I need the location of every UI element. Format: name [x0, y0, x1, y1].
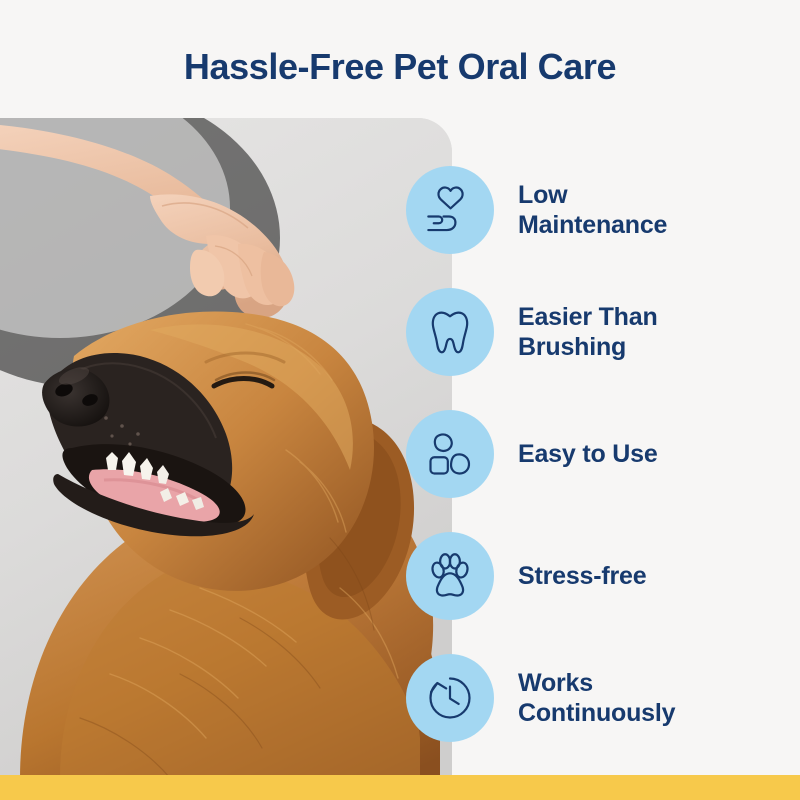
feature-label-line2: Continuously [518, 699, 675, 727]
clock-arrow-icon [406, 654, 494, 742]
feature-label-line2: Brushing [518, 333, 626, 361]
dog-photo [0, 118, 452, 778]
feature-label-line1: Low [518, 181, 567, 209]
promo-infographic: Hassle-Free Pet Oral Care [0, 0, 800, 800]
feature-item-easy-to-use: Easy to Use [406, 410, 800, 498]
feature-label-line1: Easier Than [518, 303, 658, 331]
feature-label-line1: Easy to Use [518, 440, 658, 468]
feature-label-line1: Stress-free [518, 562, 646, 590]
feature-label: Works Continuously [518, 668, 675, 728]
feature-label: Easier Than Brushing [518, 302, 658, 362]
tooth-icon [406, 288, 494, 376]
feature-item-easier-than-brushing: Easier Than Brushing [406, 288, 800, 376]
feature-label-line2: Maintenance [518, 211, 667, 239]
feature-label: Stress-free [518, 561, 646, 591]
feature-label: Low Maintenance [518, 180, 667, 240]
dog-photo-illustration [0, 118, 452, 778]
feature-label-line1: Works [518, 669, 593, 697]
feature-item-low-maintenance: Low Maintenance [406, 166, 800, 254]
bottom-accent-bar [0, 775, 800, 800]
feature-label: Easy to Use [518, 439, 658, 469]
feature-item-works-continuously: Works Continuously [406, 654, 800, 742]
hand-holding-heart-icon [406, 166, 494, 254]
feature-item-stress-free: Stress-free [406, 532, 800, 620]
feature-list: Low Maintenance Easier Than Brushing [406, 166, 800, 746]
page-title: Hassle-Free Pet Oral Care [0, 44, 800, 90]
paw-print-icon [406, 532, 494, 620]
dental-chews-icon [406, 410, 494, 498]
